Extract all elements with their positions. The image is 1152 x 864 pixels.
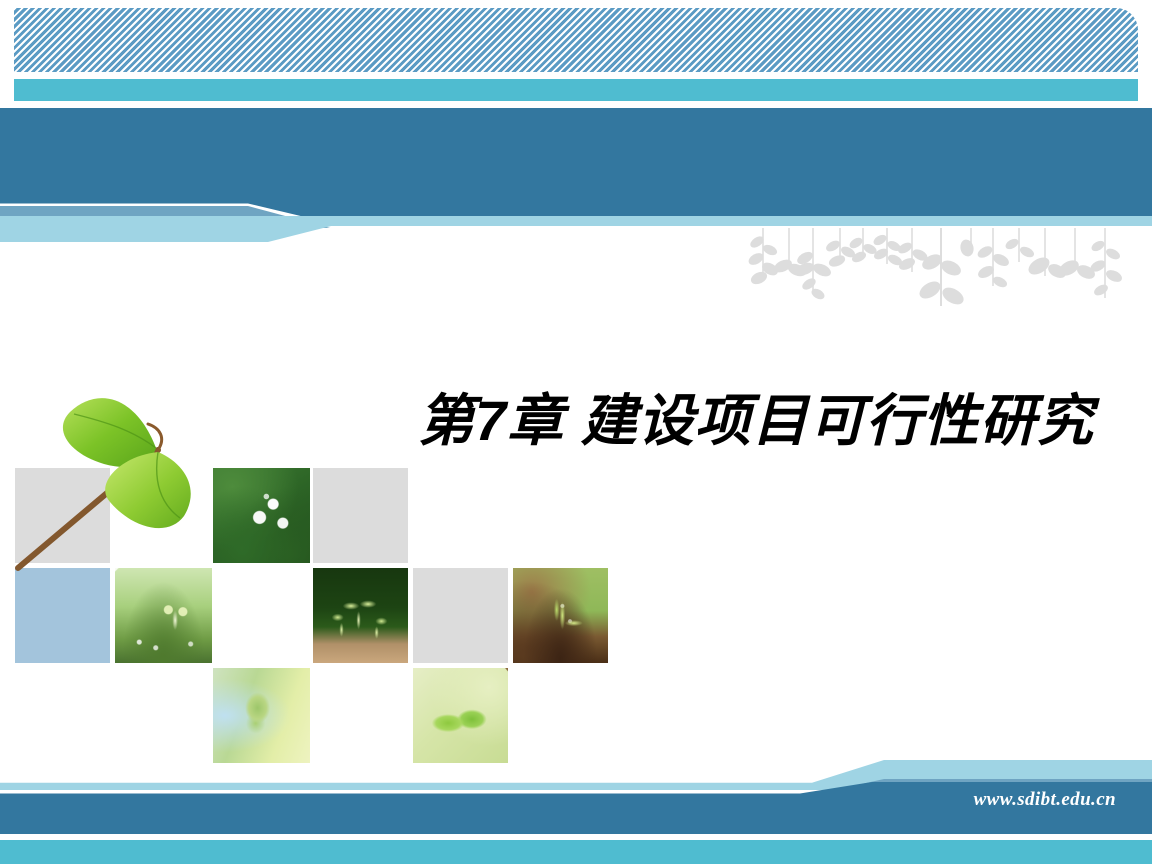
hanging-vine-pattern bbox=[745, 228, 1125, 318]
tile-gray-row1-right bbox=[313, 468, 408, 563]
tile-photo-green-bud bbox=[213, 668, 310, 763]
footer-url[interactable]: www.sdibt.edu.cn bbox=[974, 789, 1116, 811]
header-primary-band bbox=[0, 108, 1152, 223]
tile-blue-row2 bbox=[15, 568, 110, 663]
tile-photo-dewy-sprout bbox=[115, 568, 212, 663]
tile-photo-white-flowers bbox=[213, 468, 310, 563]
tile-photo-soil-sprout bbox=[513, 568, 608, 663]
page-title: 第7章 建设项目可行性研究 bbox=[418, 390, 1128, 452]
tile-photo-three-seedlings bbox=[313, 568, 408, 663]
tile-gray-row2 bbox=[413, 568, 508, 663]
diagonal-stripe-band bbox=[14, 8, 1138, 72]
presentation-slide: 第7章 建设项目可行性研究 bbox=[0, 0, 1152, 864]
footer-teal-band bbox=[0, 840, 1152, 864]
header-teal-band bbox=[14, 79, 1138, 101]
tile-photo-twin-leaves bbox=[413, 668, 508, 763]
hero-leaf-branch-image bbox=[8, 378, 218, 578]
